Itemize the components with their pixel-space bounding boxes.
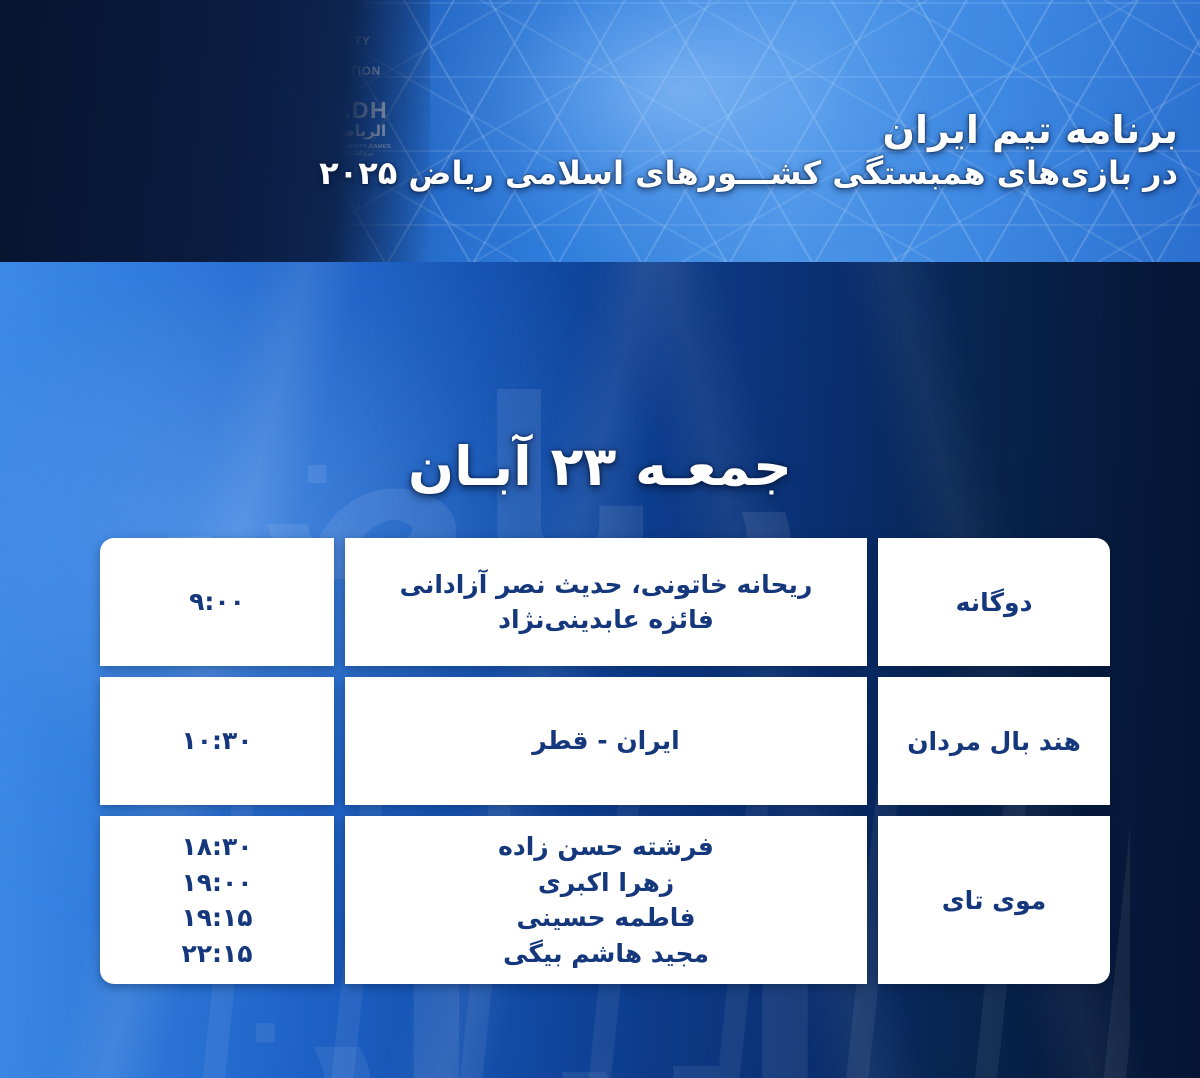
cell-time: ۱۸:۳۰ ۱۹:۰۰ ۱۹:۱۵ ۲۲:۱۵ (100, 816, 334, 984)
cell-sport: هند بال مردان (878, 677, 1110, 805)
time-line: ۲۲:۱۵ (181, 936, 252, 972)
detail-line: مجید هاشم بیگی (498, 936, 714, 972)
detail-line: فائزه عابدینی‌نژاد (400, 602, 813, 638)
cell-time: ۹:۰۰ (100, 538, 334, 666)
time-line: ۹:۰۰ (189, 584, 245, 620)
date-heading: جمعـه ۲۳ آبـان (0, 435, 1200, 498)
time-line: ۱۹:۱۵ (181, 900, 252, 936)
cell-detail: فرشته حسن زاده زهرا اکبری فاطمه حسینی مج… (345, 816, 867, 984)
cell-sport: موی تای (878, 816, 1110, 984)
cell-time: ۱۰:۳۰ (100, 677, 334, 805)
body-background: ریاض ایران جمعـه ۲۳ آبـان دوگانه ریحانه … (0, 262, 1200, 1078)
table-row: دوگانه ریحانه خاتونی، حدیث نصر آزادانی ف… (100, 538, 1110, 666)
detail-line: فرشته حسن زاده (498, 829, 714, 865)
schedule-table: دوگانه ریحانه خاتونی، حدیث نصر آزادانی ف… (100, 538, 1110, 995)
detail-line: ایران - قطر (532, 723, 679, 759)
cell-detail: ایران - قطر (345, 677, 867, 805)
detail-line: ریحانه خاتونی، حدیث نصر آزادانی (400, 567, 813, 603)
title-line-2: در بازی‌های همبستگی کشـــورهای اسلامی ری… (298, 153, 1178, 195)
page-title: برنامه تیم ایران در بازی‌های همبستگی کشـ… (298, 108, 1178, 194)
table-row: موی تای فرشته حسن زاده زهرا اکبری فاطمه … (100, 816, 1110, 984)
poster-root: ⚔ (0, 0, 1200, 1078)
table-row: هند بال مردان ایران - قطر ۱۰:۳۰ (100, 677, 1110, 805)
detail-line: زهرا اکبری (498, 865, 714, 901)
time-line: ۱۰:۳۰ (181, 723, 252, 759)
time-line: ۱۸:۳۰ (181, 829, 252, 865)
detail-line: فاطمه حسینی (498, 900, 714, 936)
time-line: ۱۹:۰۰ (181, 865, 252, 901)
title-line-1: برنامه تیم ایران (298, 108, 1178, 153)
cell-sport: دوگانه (878, 538, 1110, 666)
cell-detail: ریحانه خاتونی، حدیث نصر آزادانی فائزه عا… (345, 538, 867, 666)
date-heading-label: جمعـه ۲۳ آبـان (408, 435, 792, 498)
header-banner: ⚔ (0, 0, 1200, 262)
